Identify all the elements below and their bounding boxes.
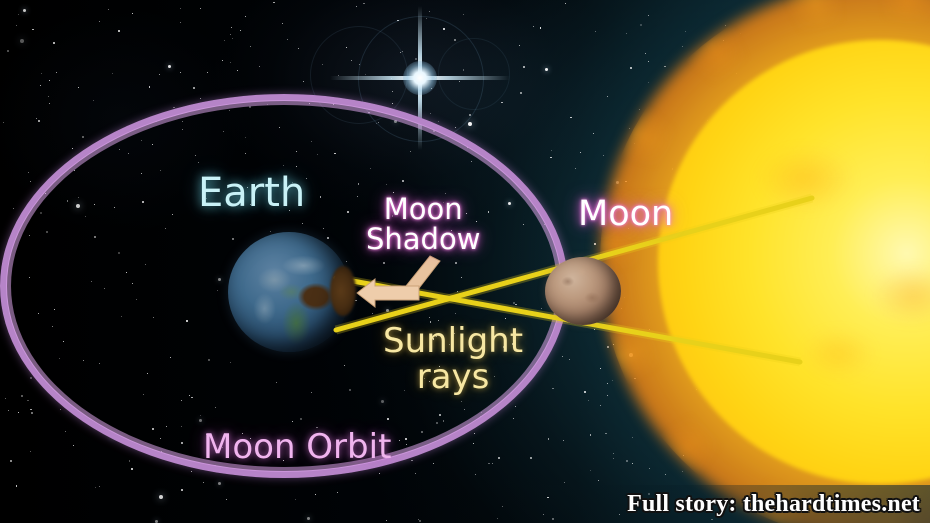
- label-moon-orbit: Moon Orbit: [203, 430, 391, 466]
- label-moon: Moon: [578, 196, 673, 233]
- label-sunlight-rays: Sunlight rays: [383, 324, 523, 395]
- moon-shadow-spot: [330, 266, 356, 316]
- label-earth: Earth: [198, 172, 305, 214]
- label-moon-shadow: Moon Shadow: [366, 194, 480, 255]
- caption-bar: Full story: thehardtimes.net: [0, 485, 930, 523]
- moon-globe: [545, 257, 621, 325]
- caption-text: Full story: thehardtimes.net: [627, 491, 920, 518]
- eclipse-diagram: Earth Moon Shadow Moon Sunlight rays Moo…: [0, 0, 930, 523]
- lens-flare-halo-3: [438, 38, 510, 110]
- star-core: [403, 61, 437, 95]
- sun: [600, 0, 930, 523]
